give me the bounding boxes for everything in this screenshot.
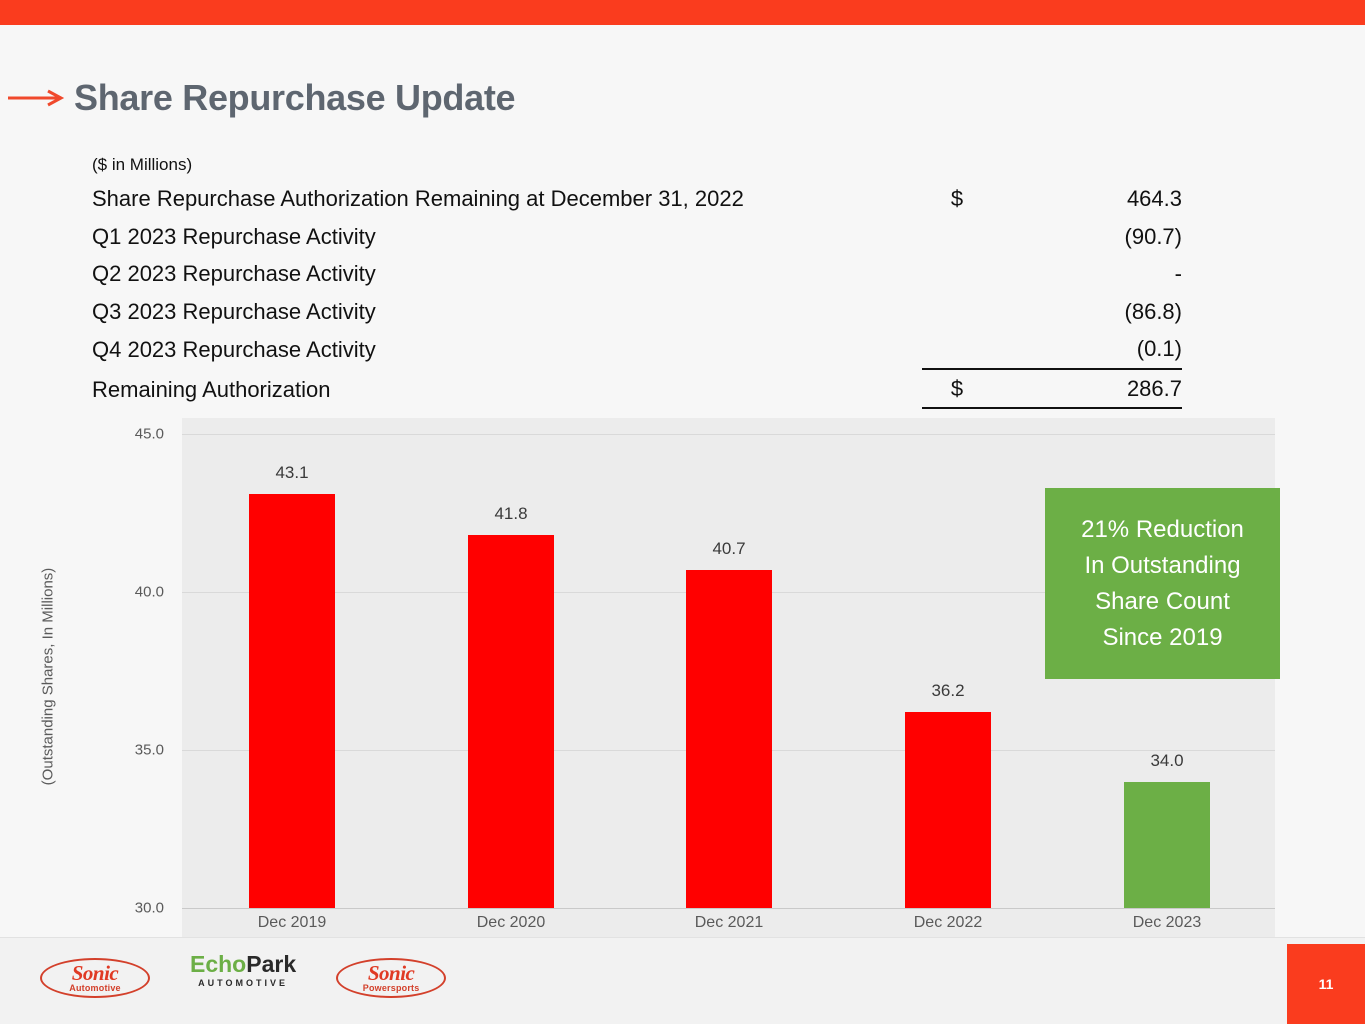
row-currency (922, 255, 992, 293)
row-value: 286.7 (992, 369, 1182, 409)
bar-dec-2022: 36.2 (905, 712, 991, 908)
logo-strip: Sonic Automotive EchoPark AUTOMOTIVE Son… (40, 952, 446, 1004)
oval-shape-icon (336, 958, 446, 998)
row-value: 464.3 (992, 180, 1182, 218)
logo-word-park: Park (246, 951, 296, 977)
row-value: - (992, 255, 1182, 293)
table-row: Share Repurchase Authorization Remaining… (92, 180, 1182, 218)
row-currency (922, 218, 992, 256)
x-tick-label-dec-2019: Dec 2019 (192, 914, 392, 932)
logo-word-echo: Echo (190, 951, 246, 977)
table-row: Q2 2023 Repurchase Activity - (92, 255, 1182, 293)
x-tick-label-dec-2022: Dec 2022 (848, 914, 1048, 932)
callout-line: 21% Reduction (1081, 512, 1244, 548)
row-currency (922, 293, 992, 331)
callout-line: Since 2019 (1102, 620, 1222, 656)
oval-shape-icon (40, 958, 150, 998)
y-axis-title: (Outstanding Shares, In Millions) (40, 537, 57, 817)
bar-value-label: 40.7 (659, 539, 799, 559)
units-note: ($ in Millions) (92, 152, 1187, 178)
title-row: Share Repurchase Update (0, 70, 900, 126)
row-currency: $ (922, 369, 992, 409)
row-value: (86.8) (992, 293, 1182, 331)
row-currency: $ (922, 180, 992, 218)
table-row-total: Remaining Authorization $ 286.7 (92, 369, 1182, 409)
row-label: Q3 2023 Repurchase Activity (92, 293, 922, 331)
bar-value-label: 41.8 (441, 504, 581, 524)
sonic-automotive-logo: Sonic Automotive (40, 952, 150, 1004)
y-tick-label: 40.0 (100, 584, 164, 601)
table-row: Q3 2023 Repurchase Activity (86.8) (92, 293, 1182, 331)
repurchase-table-body: Share Repurchase Authorization Remaining… (92, 180, 1182, 409)
row-value: (0.1) (992, 330, 1182, 369)
y-tick-label: 30.0 (100, 900, 164, 917)
row-label: Share Repurchase Authorization Remaining… (92, 180, 922, 218)
table-row: Q4 2023 Repurchase Activity (0.1) (92, 330, 1182, 369)
reduction-callout: 21% Reduction In Outstanding Share Count… (1045, 488, 1280, 679)
bar-value-label: 43.1 (222, 463, 362, 483)
y-tick-label: 45.0 (100, 426, 164, 443)
bar-dec-2023: 34.0 (1124, 782, 1210, 908)
page-title: Share Repurchase Update (74, 77, 515, 119)
page-number-badge: 11 (1287, 944, 1365, 1024)
logo-wordmark: EchoPark (190, 952, 296, 976)
x-tick-label-dec-2021: Dec 2021 (629, 914, 829, 932)
sonic-powersports-logo: Sonic Powersports (336, 952, 446, 1004)
y-tick-label: 35.0 (100, 742, 164, 759)
arrow-right-icon (8, 86, 66, 110)
outstanding-shares-chart: (Outstanding Shares, In Millions) 45.0 4… (0, 418, 1365, 938)
bar-dec-2021: 40.7 (686, 570, 772, 908)
row-label: Q1 2023 Repurchase Activity (92, 218, 922, 256)
bar-value-label: 36.2 (878, 681, 1018, 701)
slide-canvas: Share Repurchase Update ($ in Millions) … (0, 0, 1365, 1024)
x-tick-label-dec-2023: Dec 2023 (1067, 914, 1267, 932)
bar-dec-2020: 41.8 (468, 535, 554, 908)
row-label: Q2 2023 Repurchase Activity (92, 255, 922, 293)
repurchase-table: ($ in Millions) Share Repurchase Authori… (92, 152, 1187, 409)
row-label: Q4 2023 Repurchase Activity (92, 330, 922, 369)
row-currency (922, 330, 992, 369)
x-tick-label-dec-2020: Dec 2020 (411, 914, 611, 932)
echopark-automotive-logo: EchoPark AUTOMOTIVE (190, 952, 296, 1004)
callout-line: In Outstanding (1084, 548, 1240, 584)
gridline-45 (182, 434, 1275, 435)
row-label: Remaining Authorization (92, 369, 922, 409)
row-value: (90.7) (992, 218, 1182, 256)
logo-subtext: AUTOMOTIVE (198, 976, 288, 990)
callout-line: Share Count (1095, 584, 1230, 620)
top-accent-bar (0, 0, 1365, 25)
bar-dec-2019: 43.1 (249, 494, 335, 908)
axis-baseline (182, 908, 1275, 909)
bar-value-label: 34.0 (1097, 751, 1237, 771)
table-row: Q1 2023 Repurchase Activity (90.7) (92, 218, 1182, 256)
slide-footer: Sonic Automotive EchoPark AUTOMOTIVE Son… (0, 937, 1365, 1024)
